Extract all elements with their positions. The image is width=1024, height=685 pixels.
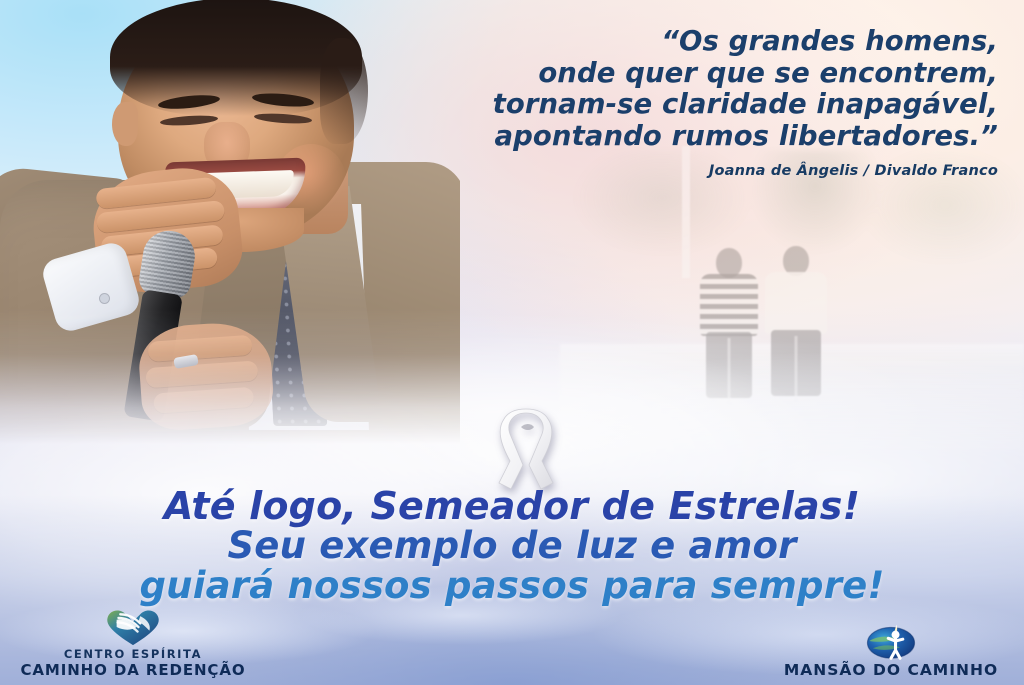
quote-attribution: Joanna de Ângelis / Divaldo Franco: [358, 163, 998, 179]
logo-right-line-2: MANSÃO DO CAMINHO: [766, 661, 1016, 679]
heart-hands-icon: [8, 607, 258, 647]
quote-line-1: “Os grandes homens,: [358, 26, 998, 58]
quote-block: “Os grandes homens, onde quer que se enc…: [358, 26, 998, 179]
quote-line-4: apontando rumos libertadores.”: [358, 121, 998, 153]
quote-line-3: tornam-se claridade inapagável,: [358, 89, 998, 121]
quote-line-2: onde quer que se encontrem,: [358, 58, 998, 90]
white-ribbon-icon: [487, 405, 565, 491]
logo-left-line-2: CAMINHO DA REDENÇÃO: [8, 661, 258, 679]
message-line-2: Seu exemplo de luz e amor: [0, 526, 1024, 566]
globe-figure-icon: [766, 621, 1016, 661]
main-message: Até logo, Semeador de Estrelas! Seu exem…: [0, 486, 1024, 606]
logo-mansao-do-caminho[interactable]: MANSÃO DO CAMINHO: [766, 621, 1016, 679]
logo-centro-espirita-caminho-da-redencao[interactable]: CENTRO ESPÍRITA CAMINHO DA REDENÇÃO: [8, 607, 258, 679]
microphone-grille: [137, 227, 199, 300]
hand-holding-microphone: [137, 320, 276, 433]
message-line-1: Até logo, Semeador de Estrelas!: [0, 486, 1024, 526]
message-line-3: guiará nossos passos para sempre!: [0, 566, 1024, 606]
finger: [145, 360, 258, 388]
finger: [153, 387, 254, 414]
finger: [147, 335, 252, 362]
cuff-button: [100, 294, 109, 303]
memorial-poster: “Os grandes homens, onde quer que se enc…: [0, 0, 1024, 685]
logo-left-line-1: CENTRO ESPÍRITA: [8, 647, 258, 661]
ear: [112, 102, 138, 146]
